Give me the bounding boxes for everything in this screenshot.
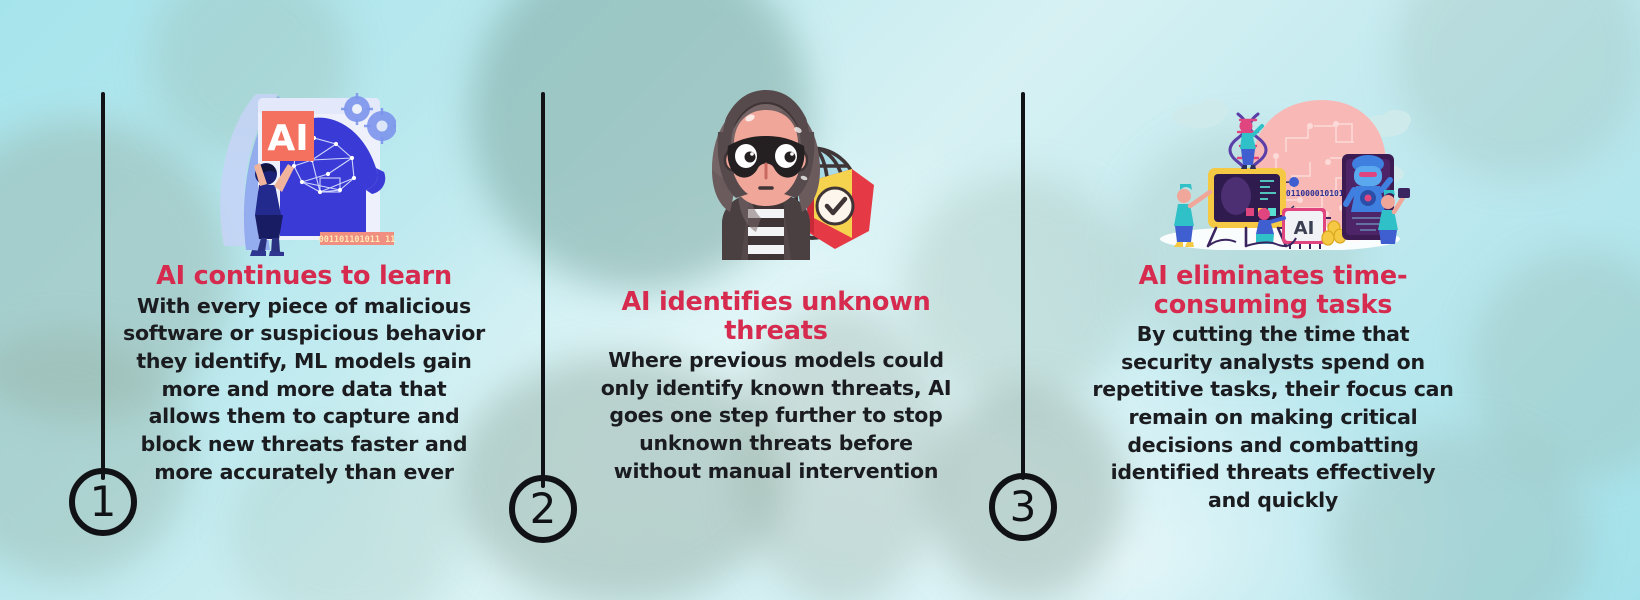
bokeh-blob bbox=[1395, 0, 1640, 180]
timeline-marker-2: 2 bbox=[509, 475, 577, 543]
ai-badge-label: AI bbox=[267, 118, 308, 159]
timeline-number-3: 3 bbox=[1010, 486, 1037, 528]
step-3-text-block: AI eliminates time-consuming tasks By cu… bbox=[1092, 262, 1454, 515]
bokeh-blob bbox=[1470, 250, 1640, 480]
timeline-number-1: 1 bbox=[90, 481, 117, 523]
ai-team-circuit-brain-illustration: 011000010101001 bbox=[1146, 96, 1414, 250]
step-3-body: By cutting the time that security analys… bbox=[1092, 321, 1454, 515]
infographic-canvas: 1 2 3 bbox=[0, 0, 1640, 600]
step-1-text-block: AI continues to learn With every piece o… bbox=[123, 262, 485, 486]
step-2-text-block: AI identifies unknown threats Where prev… bbox=[597, 288, 955, 485]
timeline-line-2 bbox=[541, 92, 545, 488]
timeline-number-2: 2 bbox=[530, 488, 557, 530]
timeline-line-1 bbox=[101, 92, 105, 480]
binary-strip-label: 001101101011 11 bbox=[319, 235, 396, 245]
hacker-globe-shield-illustration bbox=[664, 88, 880, 260]
step-2-body: Where previous models could only identif… bbox=[597, 347, 955, 485]
step-1-title: AI continues to learn bbox=[123, 262, 485, 291]
step-1-body: With every piece of malicious software o… bbox=[123, 293, 485, 487]
step-3-title: AI eliminates time-consuming tasks bbox=[1092, 262, 1454, 319]
ai-brain-head-illustration: AI 001101101011 11 bbox=[216, 86, 396, 256]
timeline-line-3 bbox=[1021, 92, 1025, 480]
step-2-title: AI identifies unknown threats bbox=[597, 288, 955, 345]
ai-chip-label: AI bbox=[1294, 218, 1315, 239]
timeline-marker-3: 3 bbox=[989, 473, 1057, 541]
